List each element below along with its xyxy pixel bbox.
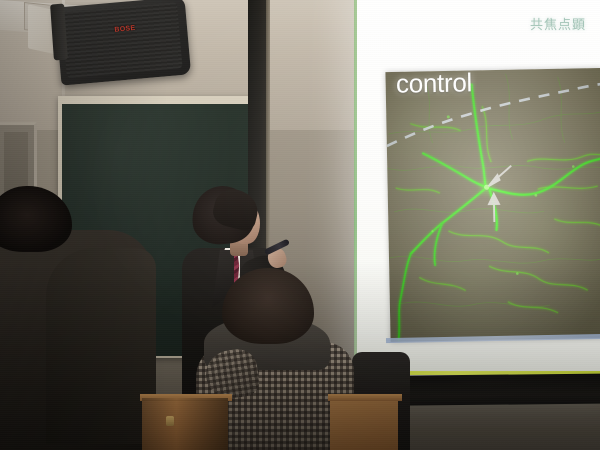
podium-object: [166, 416, 174, 426]
desk-right-top: [328, 394, 402, 401]
confocal-micrograph: [385, 68, 600, 342]
micrograph-vignette: [385, 68, 600, 342]
desk-right: [330, 398, 398, 450]
speaker-grille-icon: [61, 2, 182, 78]
podium-shading: [142, 398, 228, 450]
audience-left-hair: [0, 186, 72, 252]
lecture-photo: BOSE 共焦点顕: [0, 0, 600, 450]
wall-speaker: BOSE: [55, 0, 191, 86]
micrograph-label: control: [396, 67, 472, 99]
audience-left-shoulder: [46, 248, 156, 444]
audience-member-left: [0, 186, 154, 450]
slide-title: 共焦点顕: [530, 18, 600, 33]
audience-center-hair: [222, 268, 314, 344]
